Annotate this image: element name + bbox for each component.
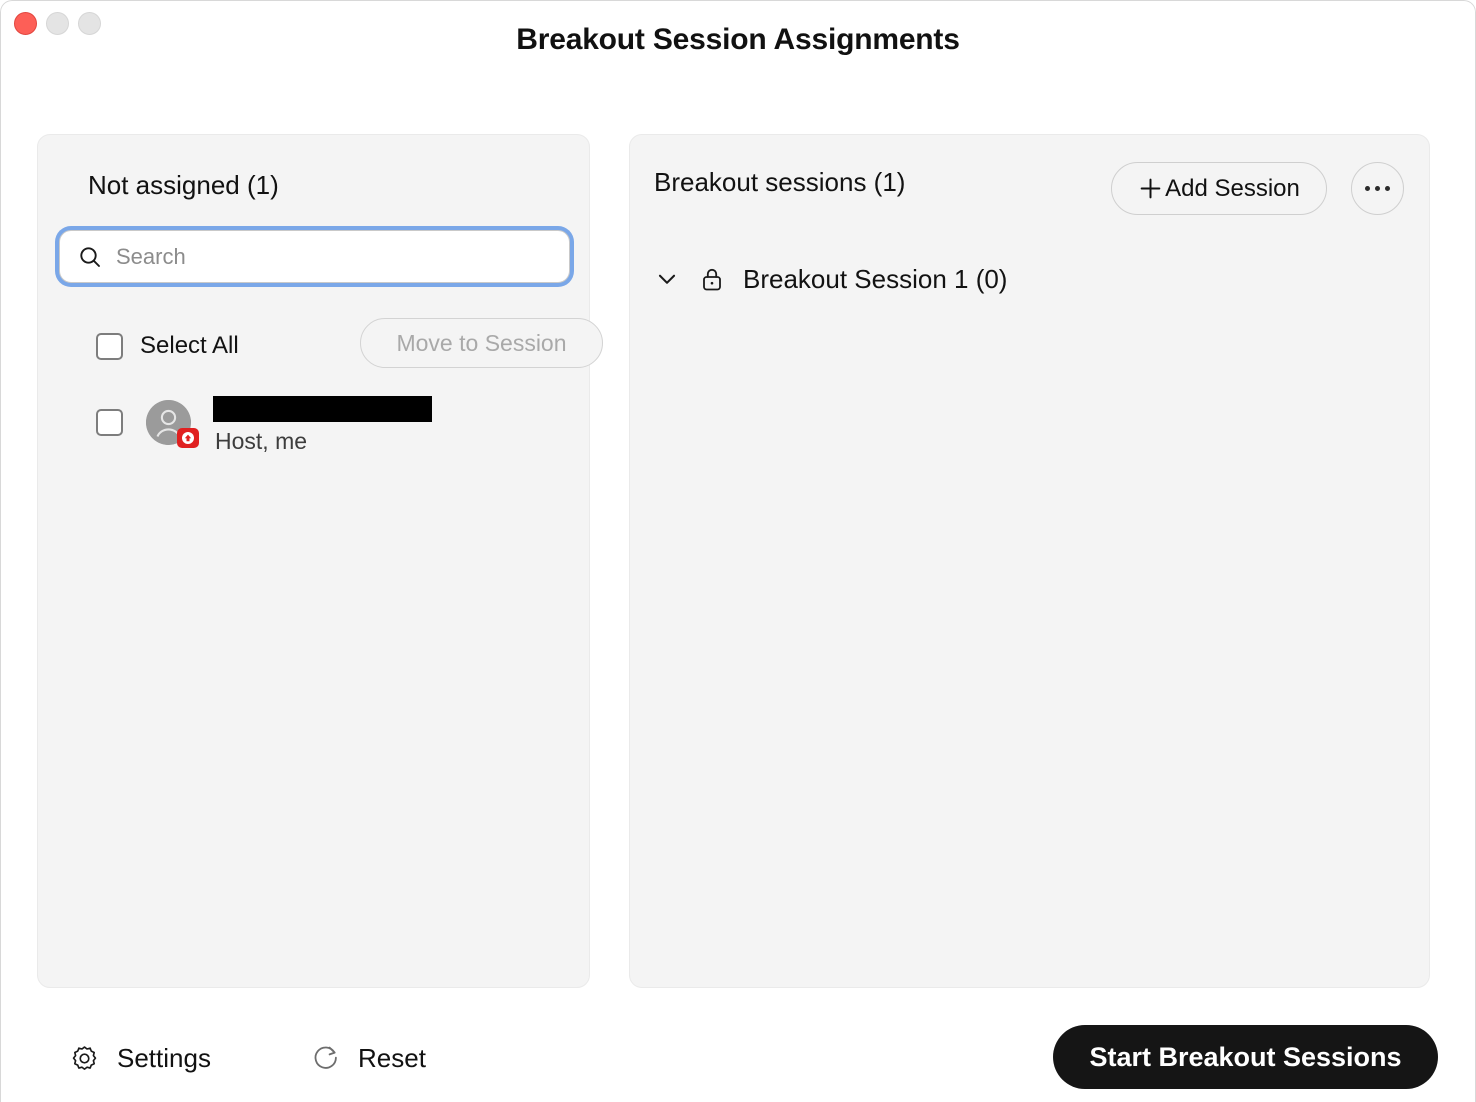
raise-hand-badge-icon [177, 428, 199, 448]
add-session-button[interactable]: Add Session [1111, 162, 1327, 215]
settings-label: Settings [117, 1043, 211, 1074]
participant-name-redacted [213, 396, 432, 422]
unassigned-participants-panel: Not assigned (1) Select All Move to Sess… [37, 134, 590, 988]
reset-button[interactable]: Reset [311, 1036, 426, 1080]
search-icon [78, 245, 102, 269]
select-all-label: Select All [140, 332, 239, 360]
select-all-row[interactable]: Select All [96, 323, 239, 369]
unassigned-heading: Not assigned (1) [88, 170, 279, 201]
arrow-up-circle-icon [181, 431, 195, 445]
ellipsis-dot-icon [1385, 186, 1390, 191]
settings-button[interactable]: Settings [69, 1036, 211, 1080]
breakout-sessions-panel: Breakout sessions (1) Add Session Breako… [629, 134, 1430, 988]
gear-icon [69, 1043, 100, 1074]
lock-icon [700, 266, 724, 292]
move-to-session-button[interactable]: Move to Session [360, 318, 603, 368]
participant-role: Host, me [215, 428, 307, 455]
participant-checkbox[interactable] [96, 409, 123, 436]
search-input[interactable] [116, 244, 516, 270]
add-session-label: Add Session [1165, 175, 1300, 203]
search-field[interactable] [59, 230, 570, 283]
page-title: Breakout Session Assignments [0, 23, 1476, 57]
session-list-item[interactable]: Breakout Session 1 (0) [654, 257, 1007, 301]
breakout-sessions-heading: Breakout sessions (1) [654, 167, 905, 198]
participant-list-item[interactable]: Host, me [96, 390, 566, 454]
avatar [146, 400, 191, 445]
chevron-down-icon[interactable] [654, 266, 680, 292]
reset-label: Reset [358, 1043, 426, 1074]
more-options-button[interactable] [1351, 162, 1404, 215]
reset-refresh-icon [311, 1043, 341, 1073]
plus-icon [1138, 176, 1163, 201]
breakout-sessions-window: Breakout Session Assignments Not assigne… [0, 0, 1476, 1102]
select-all-checkbox[interactable] [96, 333, 123, 360]
ellipsis-dot-icon [1365, 186, 1370, 191]
session-name: Breakout Session 1 (0) [743, 264, 1007, 295]
window-titlebar: Breakout Session Assignments [0, 0, 1476, 86]
start-breakout-sessions-button[interactable]: Start Breakout Sessions [1053, 1025, 1438, 1089]
ellipsis-dot-icon [1375, 186, 1380, 191]
